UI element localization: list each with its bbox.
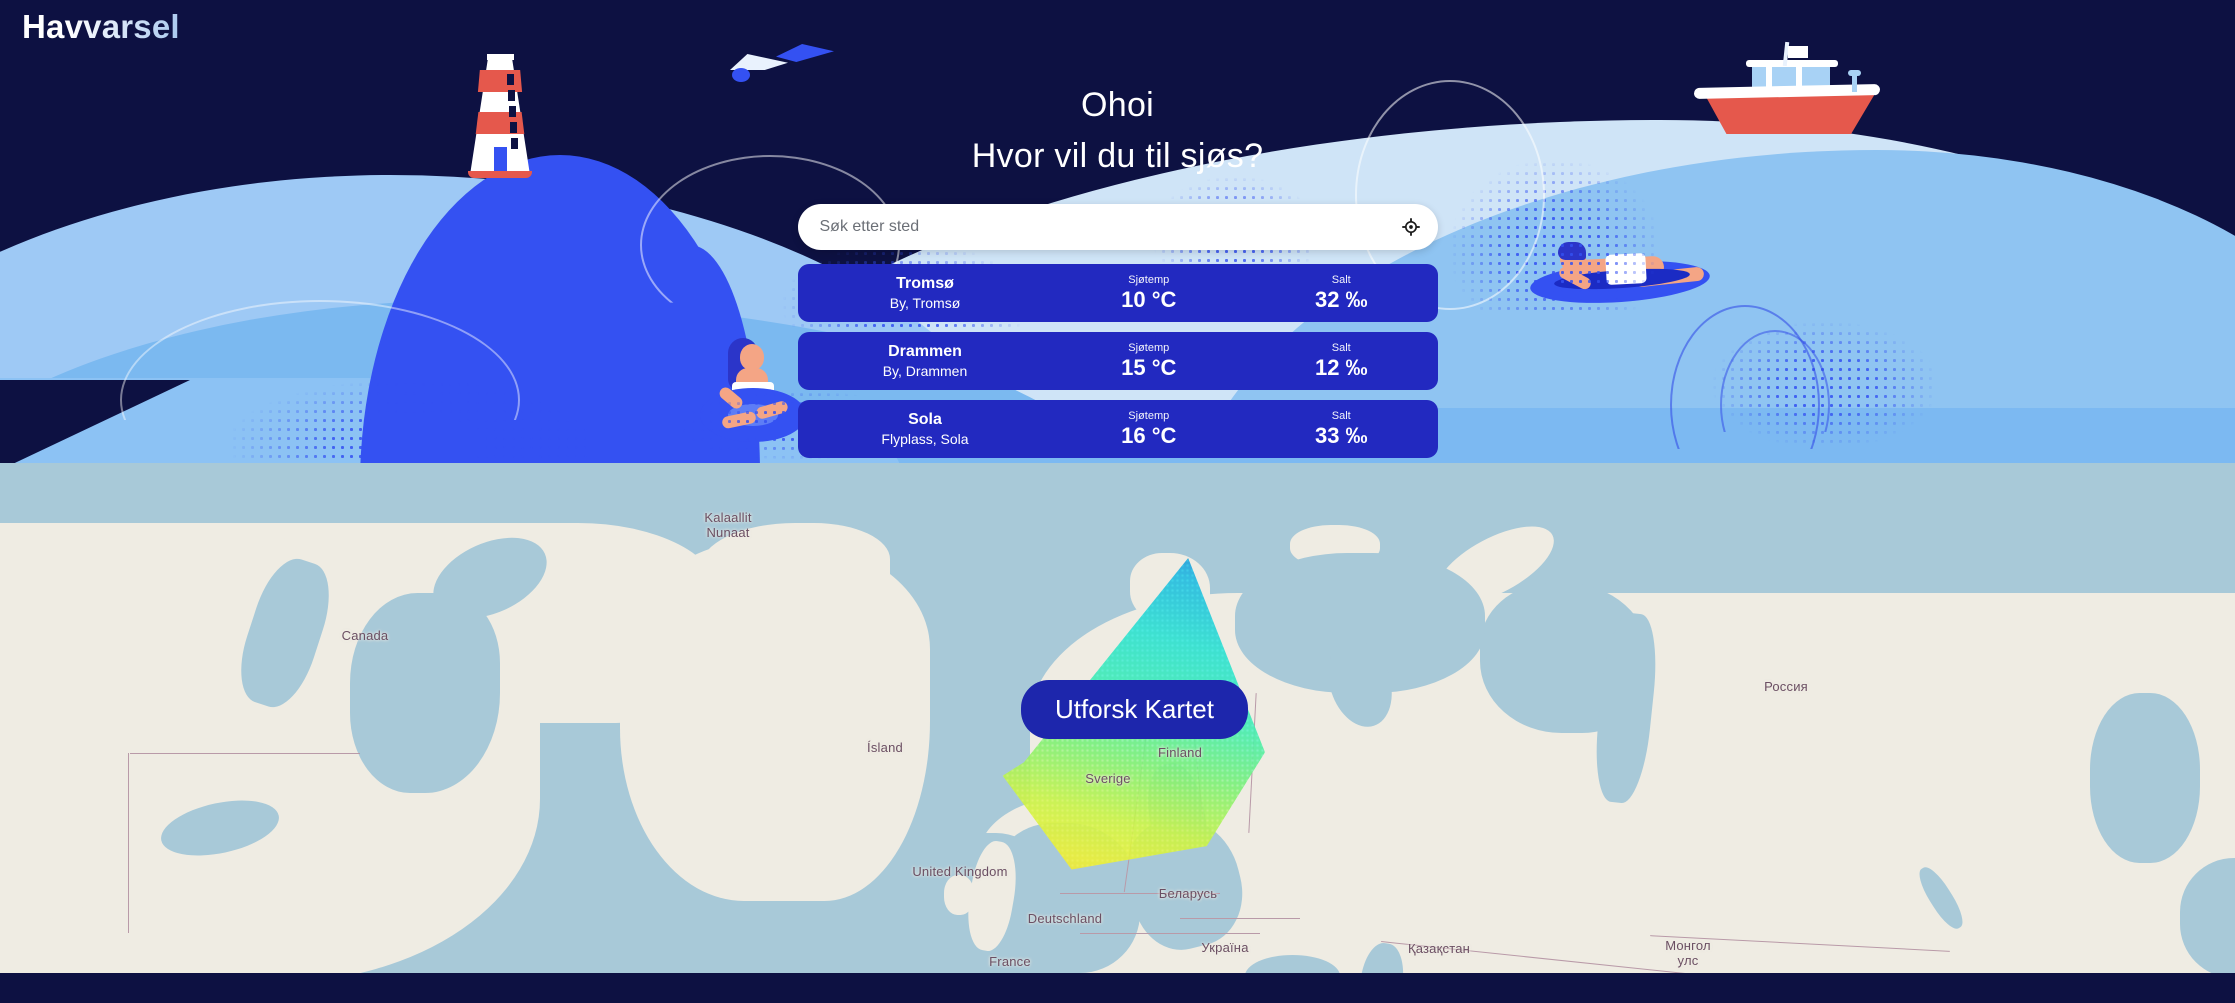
result-title: Drammen	[798, 342, 1053, 362]
result-subtitle: By, Tromsø	[798, 294, 1053, 312]
page-title: Ohoi	[798, 86, 1438, 125]
result-subtitle: Flyplass, Sola	[798, 430, 1053, 448]
map-label: Монгол улс	[1628, 938, 1748, 968]
metric-label-salt: Salt	[1245, 342, 1438, 354]
result-place: Drammen By, Drammen	[798, 342, 1053, 380]
result-salinity: Salt 12 ‰	[1245, 342, 1438, 381]
map-label: Ísland	[825, 740, 945, 755]
metric-value-temp: 10 °C	[1053, 287, 1246, 313]
hero-section: Havvarsel Ohoi Hvor vil du til sjøs?	[0, 0, 2235, 463]
border-usa-west	[128, 753, 130, 933]
result-subtitle: By, Drammen	[798, 362, 1053, 380]
crosshair-locate-icon	[1401, 217, 1421, 237]
metric-value-salt: 32 ‰	[1245, 287, 1438, 313]
metric-label-salt: Salt	[1245, 274, 1438, 286]
brand-logo[interactable]: Havvarsel	[22, 8, 180, 46]
search-result-item[interactable]: Drammen By, Drammen Sjøtemp 15 °C Salt 1…	[798, 332, 1438, 390]
search-result-item[interactable]: Tromsø By, Tromsø Sjøtemp 10 °C Salt 32 …	[798, 264, 1438, 322]
page-footer	[0, 973, 2235, 1003]
metric-value-salt: 33 ‰	[1245, 423, 1438, 449]
result-sea-temperature: Sjøtemp 16 °C	[1053, 410, 1246, 449]
border-europe-cluster-2	[1080, 933, 1260, 934]
result-place: Sola Flyplass, Sola	[798, 410, 1053, 448]
map-label: Беларусь	[1128, 886, 1248, 901]
water-sea-of-okhotsk	[2090, 693, 2200, 863]
landmass-ireland	[944, 875, 974, 915]
map-label: Україна	[1165, 940, 1285, 955]
locate-me-button[interactable]	[1384, 204, 1438, 250]
map-label: Россия	[1726, 679, 1846, 694]
page-subtitle: Hvor vil du til sjøs?	[798, 137, 1438, 176]
map-label: Kalaallit Nunaat	[668, 510, 788, 540]
explore-map-button[interactable]: Utforsk Kartet	[1021, 680, 1248, 739]
metric-label-temp: Sjøtemp	[1053, 274, 1246, 286]
world-map[interactable]: Utforsk Kartet Kalaallit NunaatCanadaÍsl…	[0, 463, 2235, 973]
metric-value-salt: 12 ‰	[1245, 355, 1438, 381]
metric-label-temp: Sjøtemp	[1053, 410, 1246, 422]
border-belarus-ukraine	[1180, 918, 1300, 919]
result-title: Tromsø	[798, 274, 1053, 294]
metric-value-temp: 15 °C	[1053, 355, 1246, 381]
metric-value-temp: 16 °C	[1053, 423, 1246, 449]
map-label: France	[950, 954, 1070, 969]
result-sea-temperature: Sjøtemp 15 °C	[1053, 342, 1246, 381]
map-label: Deutschland	[1005, 911, 1125, 926]
result-title: Sola	[798, 410, 1053, 430]
result-place: Tromsø By, Tromsø	[798, 274, 1053, 312]
water-hudson-bay	[350, 593, 500, 793]
search-input[interactable]	[798, 204, 1384, 250]
map-label: Finland	[1120, 745, 1240, 760]
result-salinity: Salt 33 ‰	[1245, 410, 1438, 449]
seagull-icon	[730, 40, 830, 70]
result-sea-temperature: Sjøtemp 10 °C	[1053, 274, 1246, 313]
metric-label-salt: Salt	[1245, 410, 1438, 422]
metric-label-temp: Sjøtemp	[1053, 342, 1246, 354]
lighthouse-icon	[455, 40, 545, 175]
map-label: United Kingdom	[900, 864, 1020, 879]
hero-content: Ohoi Hvor vil du til sjøs?	[798, 86, 1438, 458]
search-results-list: Tromsø By, Tromsø Sjøtemp 10 °C Salt 32 …	[798, 264, 1438, 458]
border-canada-usa	[130, 753, 360, 754]
search-result-item[interactable]: Sola Flyplass, Sola Sjøtemp 16 °C Salt 3…	[798, 400, 1438, 458]
map-label: Sverige	[1048, 771, 1168, 786]
search-bar	[798, 204, 1438, 250]
map-label: Canada	[305, 628, 425, 643]
map-label: Қазақстан	[1379, 941, 1499, 956]
fishing-boat-icon	[1690, 42, 1880, 147]
havvarsel-landing-page: Havvarsel Ohoi Hvor vil du til sjøs?	[0, 0, 2235, 1003]
result-salinity: Salt 32 ‰	[1245, 274, 1438, 313]
